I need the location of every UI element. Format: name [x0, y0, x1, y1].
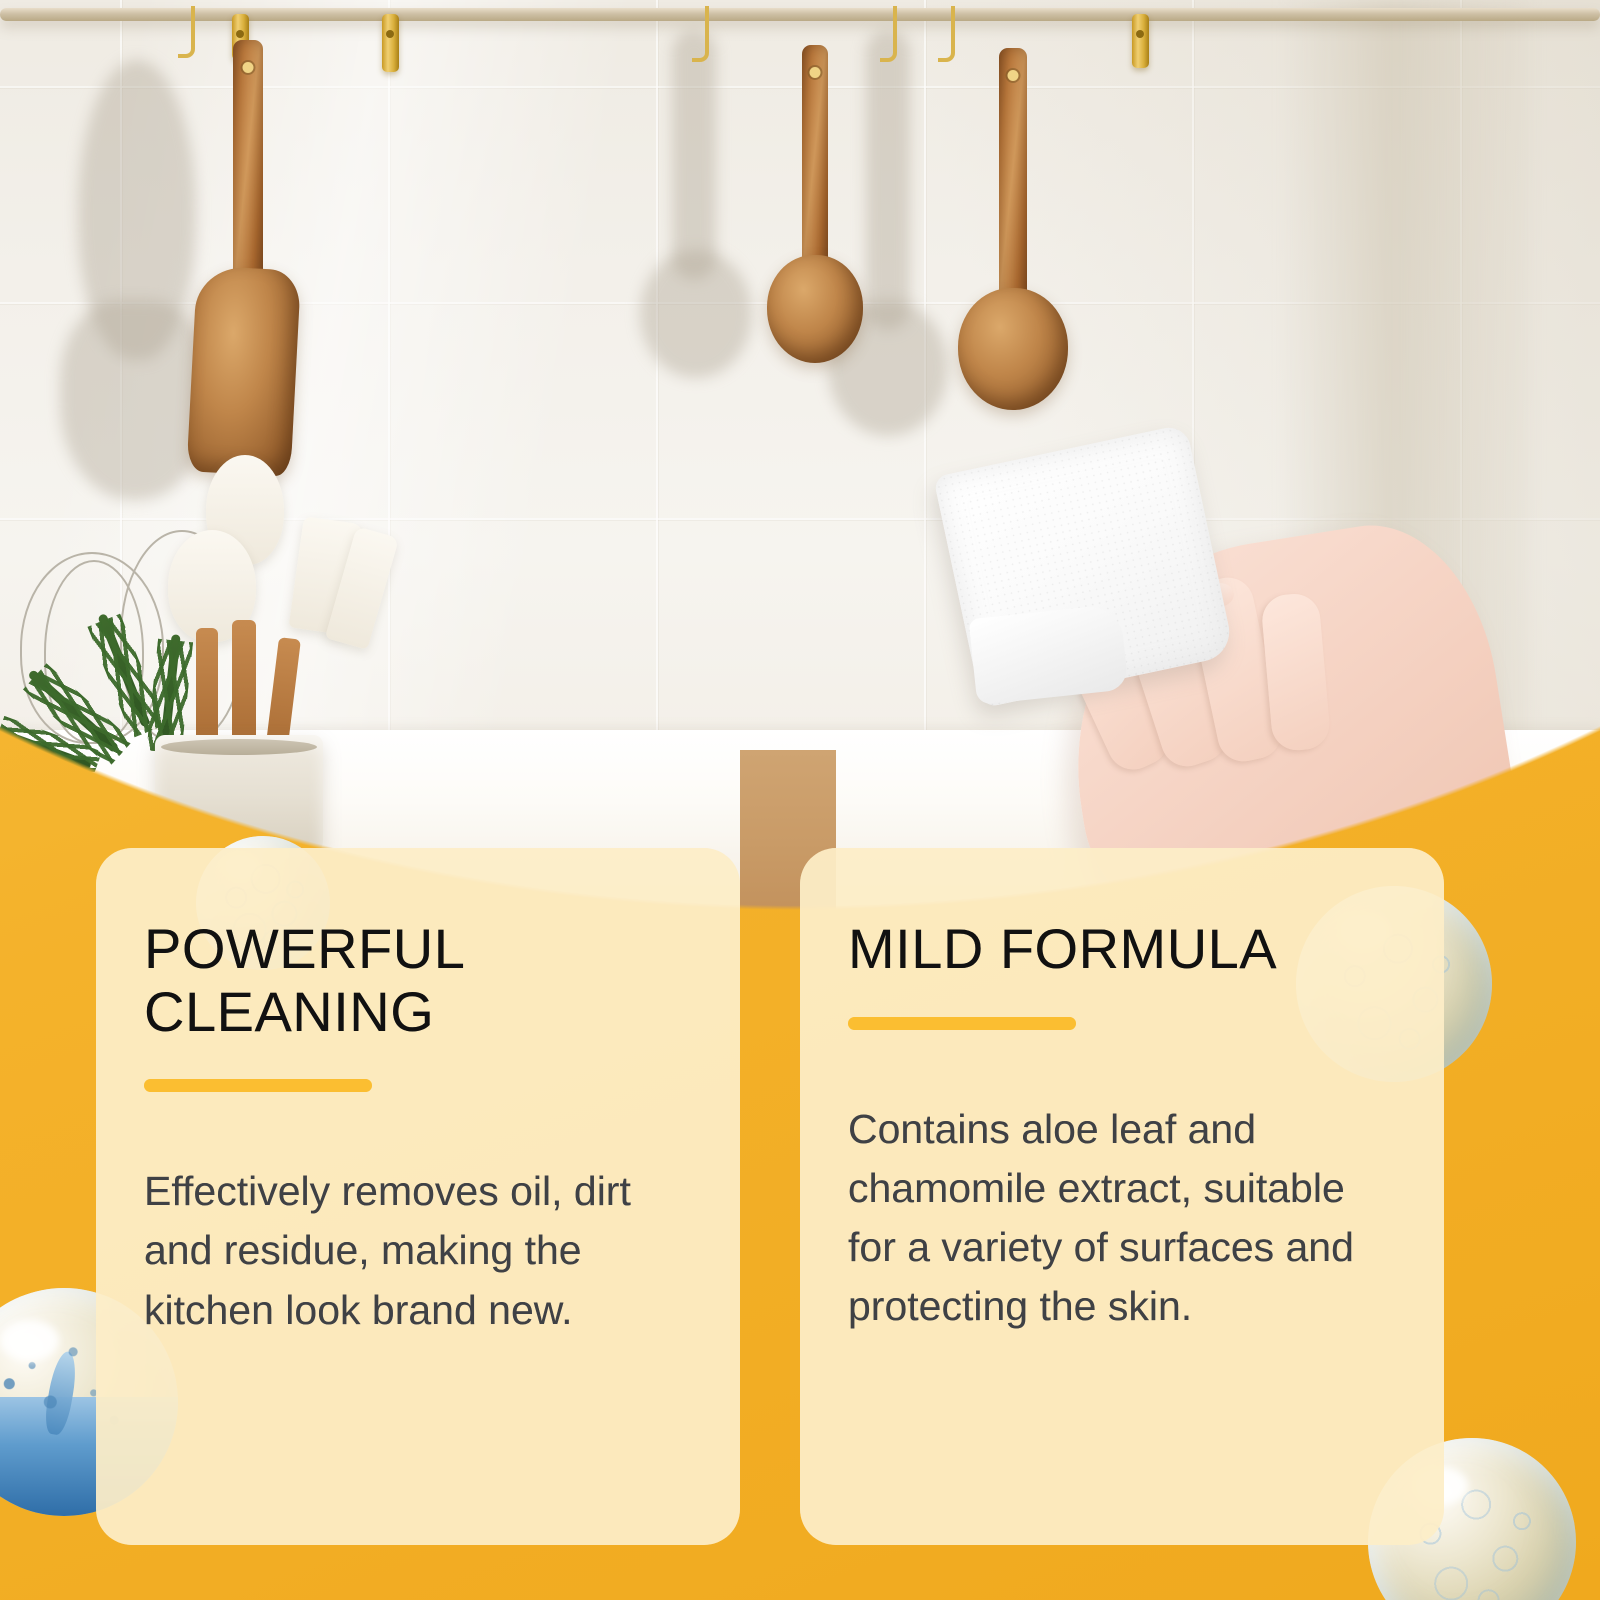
card-title: MILD FORMULA	[848, 918, 1388, 981]
feature-card-powerful-cleaning-text[interactable]: POWERFUL CLEANING Effectively removes oi…	[96, 848, 740, 1545]
rail-hook-5	[692, 6, 709, 62]
hero-photo: KEND	[0, 0, 1600, 920]
spoon-small-handle	[802, 45, 828, 275]
spatula-eyelet	[243, 62, 254, 73]
product-infographic-poster: KEND	[0, 0, 1600, 1600]
wooden-spatula	[188, 40, 308, 440]
feature-card-mild-formula-text[interactable]: MILD FORMULA Contains aloe leaf and cham…	[800, 848, 1444, 1545]
spoon1-shadow	[672, 30, 716, 280]
card-accent-rule	[848, 1017, 1076, 1030]
spatula-handle	[233, 40, 263, 290]
rail-hook-2	[382, 14, 399, 72]
spoon1-shadow-bowl	[640, 250, 752, 378]
wooden-spoon-small	[755, 45, 875, 385]
card-title: POWERFUL CLEANING	[144, 918, 684, 1043]
fern-frond	[160, 634, 181, 746]
card-accent-rule	[144, 1079, 372, 1092]
spoon-small-bowl	[767, 255, 863, 363]
spatula-blade	[187, 265, 302, 476]
card-body-text: Contains aloe leaf and chamomile extract…	[848, 1100, 1388, 1336]
ladle-bowl	[958, 288, 1068, 410]
crock-label: KEND	[169, 826, 221, 844]
ladle-eyelet	[1008, 70, 1019, 81]
ladle-handle	[999, 48, 1027, 310]
tile-wall-background: KEND	[0, 0, 1600, 920]
utensil-wood-handle-2	[232, 620, 256, 750]
rail-hook-6	[880, 6, 897, 62]
fern-frond	[97, 613, 150, 728]
finger-pinky	[1260, 592, 1331, 752]
card-body-text: Effectively removes oil, dirt and residu…	[144, 1162, 684, 1339]
rail-hook-3	[1132, 14, 1149, 68]
spoon-small-eyelet	[810, 67, 821, 78]
wooden-ladle	[948, 48, 1078, 428]
wipe-fold	[969, 604, 1129, 705]
utensil-crock: KEND	[155, 735, 323, 857]
